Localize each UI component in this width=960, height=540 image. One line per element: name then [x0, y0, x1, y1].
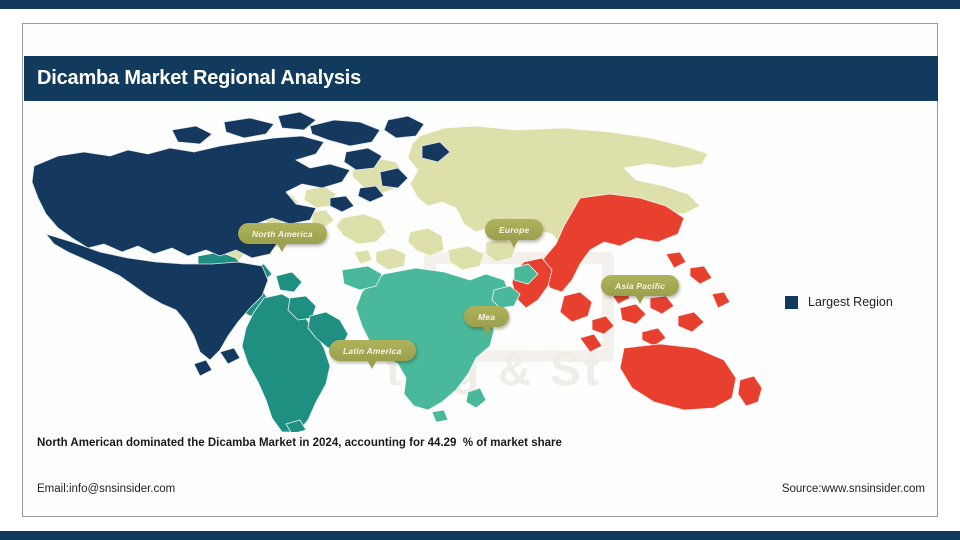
page-title: Dicamba Market Regional Analysis: [24, 67, 361, 90]
world-map: ting & St: [24, 102, 784, 432]
map-label-text: Asia Pacific: [615, 281, 665, 291]
contact-row: Email:info@snsinsider.com Source:www.sns…: [37, 483, 925, 495]
legend-label-largest-region: Largest Region: [808, 295, 893, 309]
map-label-asia-pacific[interactable]: Asia Pacific: [601, 275, 679, 296]
map-label-text: Latin America: [343, 346, 402, 356]
title-band: Dicamba Market Regional Analysis: [24, 56, 938, 101]
map-label-latin-america[interactable]: Latin America: [329, 340, 416, 361]
map-label-north-america[interactable]: North America: [238, 223, 327, 244]
top-accent-bar: [0, 0, 960, 9]
legend-swatch-largest-region: [785, 296, 798, 309]
source-text: Source:www.snsinsider.com: [782, 483, 925, 495]
map-label-text: Europe: [499, 225, 529, 235]
world-map-svg: [24, 102, 784, 432]
map-label-mea[interactable]: Mea: [464, 306, 509, 327]
footnote: North American dominated the Dicamba Mar…: [37, 437, 562, 449]
legend: Largest Region: [785, 295, 893, 309]
bottom-accent-bar: [0, 531, 960, 540]
map-label-text: North America: [252, 229, 313, 239]
slide-card: Dicamba Market Regional Analysis ting & …: [22, 23, 938, 517]
map-label-text: Mea: [478, 312, 495, 322]
email-text: Email:info@snsinsider.com: [37, 483, 175, 495]
map-label-europe[interactable]: Europe: [485, 219, 543, 240]
